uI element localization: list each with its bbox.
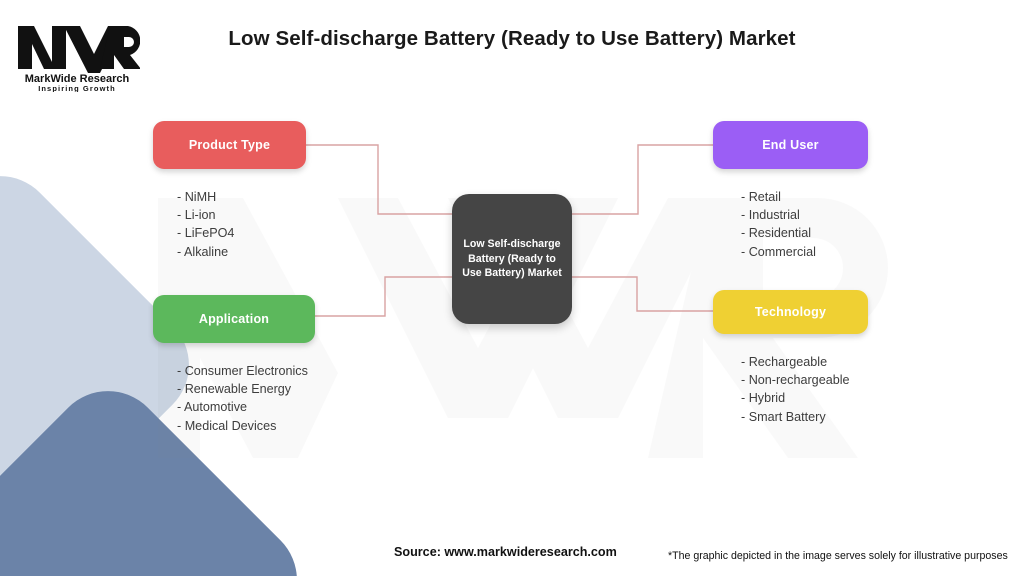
branch-items-end-user: - Retail - Industrial - Residential - Co…	[741, 188, 868, 261]
branch-items-technology: - Rechargeable - Non-rechargeable - Hybr…	[741, 353, 868, 426]
branch-label-product-type[interactable]: Product Type	[153, 121, 306, 169]
branch-label-application[interactable]: Application	[153, 295, 315, 343]
list-item: - Consumer Electronics	[177, 362, 315, 380]
list-item: - Hybrid	[741, 389, 868, 407]
source-text: Source: www.markwideresearch.com	[394, 545, 617, 559]
list-item: - Automotive	[177, 398, 315, 416]
disclaimer-text: *The graphic depicted in the image serve…	[668, 550, 1008, 562]
list-item: - LiFePO4	[177, 224, 306, 242]
branch-items-application: - Consumer Electronics - Renewable Energ…	[177, 362, 315, 435]
center-node[interactable]: Low Self-discharge Battery (Ready to Use…	[452, 194, 572, 324]
connector-application	[315, 277, 452, 316]
list-item: - Non-rechargeable	[741, 371, 868, 389]
branch-label-end-user[interactable]: End User	[713, 121, 868, 169]
list-item: - Industrial	[741, 206, 868, 224]
branch-items-product-type: - NiMH - Li-ion - LiFePO4 - Alkaline	[177, 188, 306, 261]
list-item: - Li-ion	[177, 206, 306, 224]
list-item: - Residential	[741, 224, 868, 242]
branch-technology[interactable]: Technology - Rechargeable - Non-recharge…	[713, 290, 868, 426]
connector-product-type	[306, 145, 452, 214]
infographic-canvas: MarkWide Research Inspiring Growth Low S…	[0, 0, 1024, 576]
list-item: - Retail	[741, 188, 868, 206]
branch-application[interactable]: Application - Consumer Electronics - Ren…	[153, 295, 315, 435]
list-item: - Rechargeable	[741, 353, 868, 371]
branch-end-user[interactable]: End User - Retail - Industrial - Residen…	[713, 121, 868, 261]
list-item: - Renewable Energy	[177, 380, 315, 398]
list-item: - Alkaline	[177, 243, 306, 261]
center-node-label: Low Self-discharge Battery (Ready to Use…	[452, 237, 572, 280]
connector-end-user	[572, 145, 713, 214]
list-item: - NiMH	[177, 188, 306, 206]
connector-technology	[572, 277, 713, 311]
list-item: - Medical Devices	[177, 417, 315, 435]
list-item: - Smart Battery	[741, 408, 868, 426]
branch-product-type[interactable]: Product Type - NiMH - Li-ion - LiFePO4 -…	[153, 121, 306, 261]
list-item: - Commercial	[741, 243, 868, 261]
branch-label-technology[interactable]: Technology	[713, 290, 868, 334]
